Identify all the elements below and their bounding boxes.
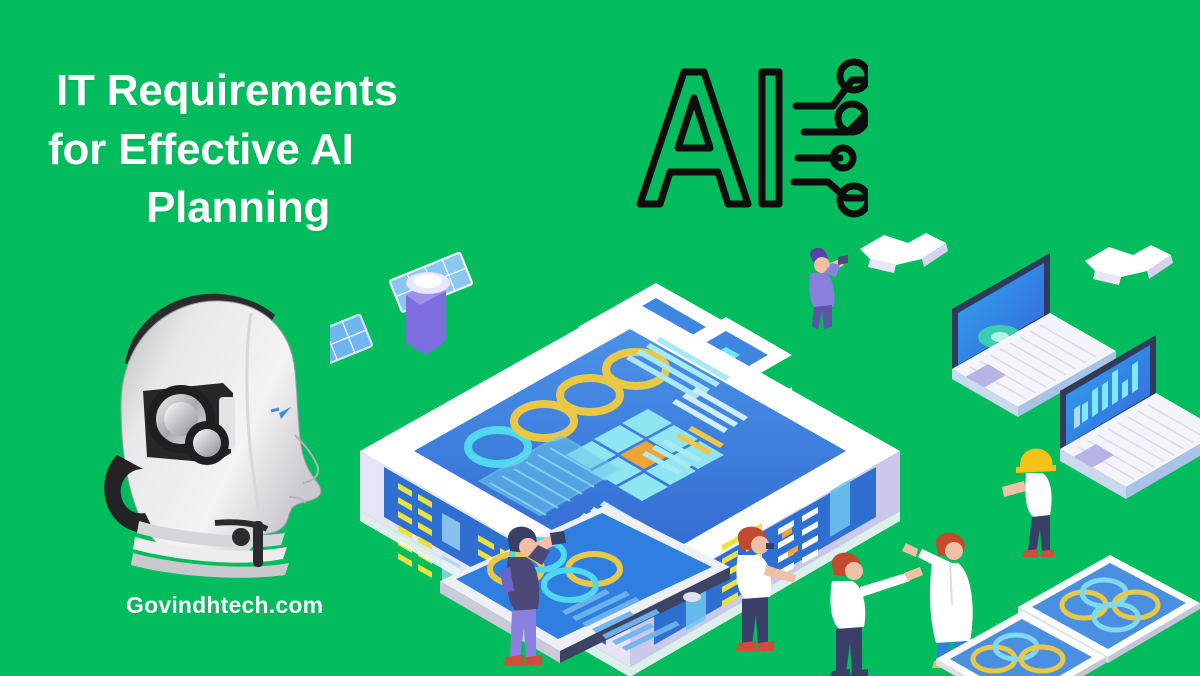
- isometric-illustration: [330, 215, 1200, 676]
- person-top: [809, 248, 848, 329]
- title-line-2: for Effective AI: [40, 121, 510, 180]
- logo-letter-i: [762, 72, 779, 204]
- logo-letter-a-counter: [678, 98, 710, 148]
- person-hardhat: [1002, 449, 1056, 557]
- ai-logo: [628, 58, 868, 218]
- poster-canvas: IT Requirements for Effective AI Plannin…: [0, 0, 1200, 676]
- title-line-1: IT Requirements: [40, 62, 510, 121]
- cloud-left: [860, 233, 948, 273]
- phone-home-button: [683, 592, 701, 602]
- robot-brow: [271, 409, 279, 411]
- person-center-cube: [830, 553, 923, 676]
- robot-ear-lens-small: [193, 429, 221, 457]
- satellite: [330, 252, 480, 374]
- logo-node-1: [840, 62, 868, 90]
- cloud-right: [1085, 245, 1173, 285]
- robot-head: [95, 285, 345, 580]
- page-title: IT Requirements for Effective AI Plannin…: [40, 62, 510, 238]
- brand-watermark: Govindhtech.com: [126, 592, 323, 619]
- logo-letter-a: [640, 72, 748, 204]
